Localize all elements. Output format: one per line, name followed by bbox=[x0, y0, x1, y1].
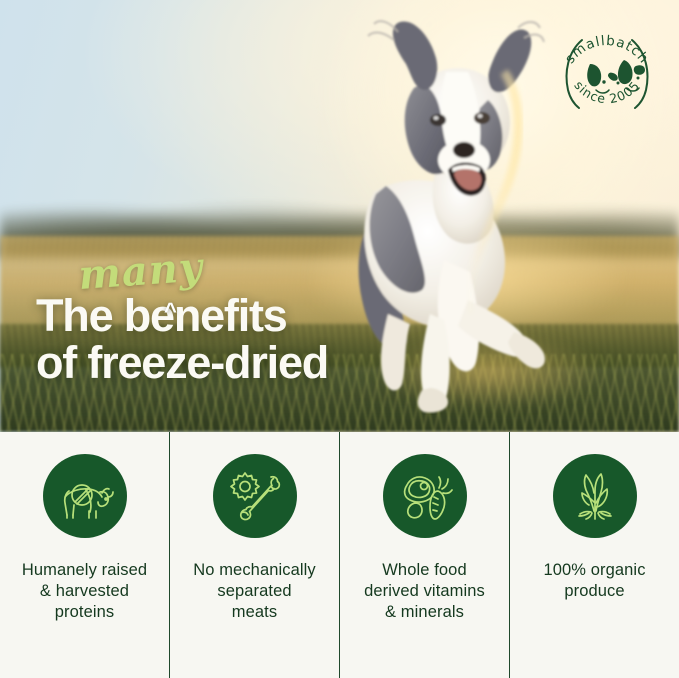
feature-caption: 100% organic produce bbox=[535, 560, 653, 602]
headline-line-2: of freeze-dried bbox=[36, 341, 476, 386]
feature-badge bbox=[213, 454, 297, 538]
feature-caption: Humanely raised & harvested proteins bbox=[14, 560, 155, 623]
feature-caption: No mechanically separated meats bbox=[185, 560, 324, 623]
cow-no-hormones-icon bbox=[56, 471, 114, 521]
feature-item: No mechanically separated meats bbox=[169, 432, 339, 678]
hero-photo: many ^ The benefits of freeze-dried smal… bbox=[0, 0, 679, 432]
logo-top-text: smallbatch bbox=[562, 33, 652, 67]
svg-text:smallbatch: smallbatch bbox=[562, 33, 652, 67]
caret-insert-mark: ^ bbox=[164, 300, 177, 322]
feature-item: Humanely raised & harvested proteins bbox=[0, 432, 169, 678]
sprouting-plant-icon bbox=[568, 469, 622, 523]
feature-item: Whole food derived vitamins & minerals bbox=[339, 432, 509, 678]
feature-caption: Whole food derived vitamins & minerals bbox=[356, 560, 493, 623]
poster: many ^ The benefits of freeze-dried smal… bbox=[0, 0, 679, 678]
feature-badge bbox=[383, 454, 467, 538]
feature-item: 100% organic produce bbox=[509, 432, 679, 678]
headline-line-1: The benefits bbox=[36, 294, 476, 339]
feature-badge bbox=[553, 454, 637, 538]
steak-carrot-egg-icon bbox=[397, 469, 453, 523]
feature-badge bbox=[43, 454, 127, 538]
brand-logo: smallbatch since 2005 bbox=[552, 16, 662, 126]
gear-and-bone-icon bbox=[228, 469, 282, 523]
features-row: Humanely raised & harvested proteins No … bbox=[0, 432, 679, 678]
headline-block: many ^ The benefits of freeze-dried bbox=[36, 256, 476, 385]
